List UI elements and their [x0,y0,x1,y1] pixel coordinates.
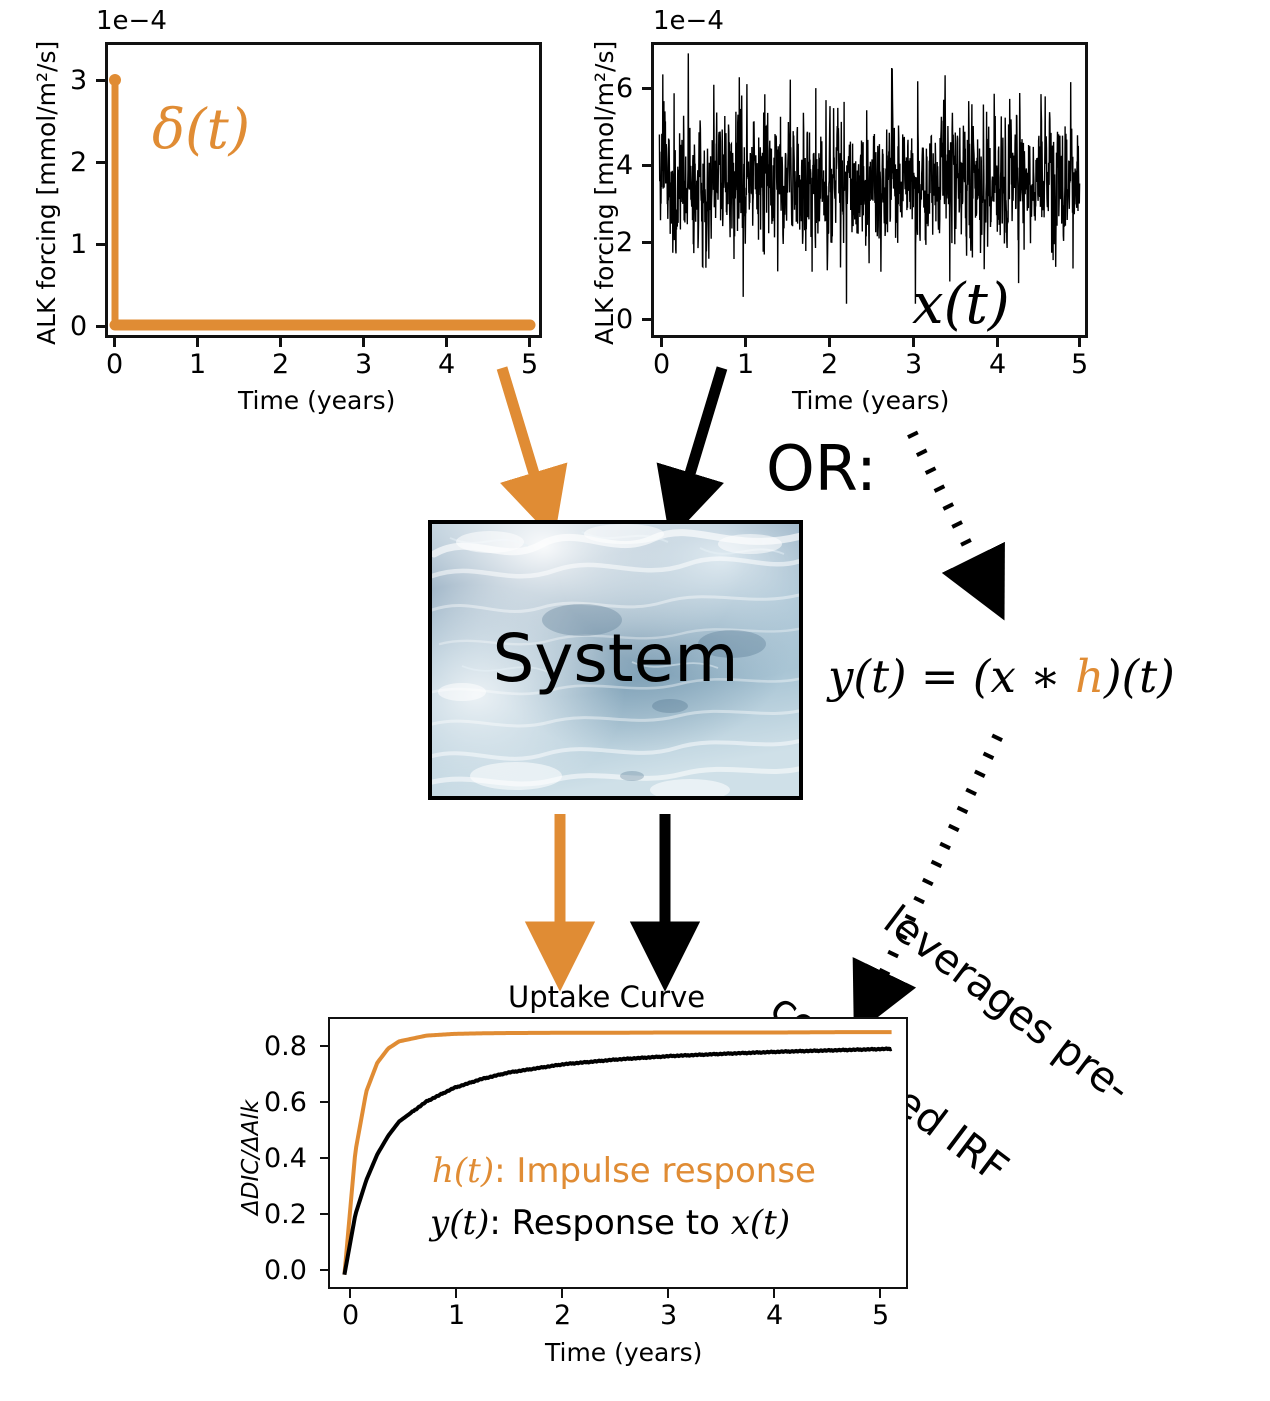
legend-y-text: : Response to [489,1203,730,1243]
noise-ytick-label: 2 [616,227,633,258]
uptake-xtick-mark [349,1289,351,1298]
noise-ytick-label: 0 [616,304,633,335]
uptake-yaxis-label: ΔDIC/ΔAlk [238,1100,264,1215]
impulse-xtick-mark [362,338,365,347]
impulse-ytick-label: 2 [70,147,87,178]
impulse-xtick-label: 2 [272,349,289,380]
arrow-impulse-to-system [480,360,600,520]
noise-xaxis-label: Time (years) [792,386,949,415]
uptake-ytick-label: 0.4 [264,1143,307,1174]
uptake-xtick-mark [773,1289,775,1298]
uptake-xtick-label: 1 [448,1300,465,1331]
uptake-ytick-mark [320,1045,329,1047]
noise-ytick-mark [642,87,651,90]
impulse-xtick-mark [113,338,116,347]
uptake-xtick-mark [879,1289,881,1298]
uptake-ytick-mark [320,1157,329,1159]
arrow-system-to-uptake-orange [540,810,590,970]
noise-xtick-label: 2 [821,349,838,380]
impulse-ytick-mark [96,325,105,328]
uptake-ytick-mark [320,1269,329,1271]
uptake-ytick-label: 0.6 [264,1087,307,1118]
impulse-ytick-label: 0 [70,311,87,342]
impulse-xtick-label: 0 [106,349,123,380]
noise-xtick-label: 4 [989,349,1006,380]
uptake-legend-h: h(t): Impulse response [432,1151,816,1191]
impulse-ytick-label: 3 [70,65,87,96]
arrow-noise-to-system [660,360,780,520]
impulse-ytick-mark [96,243,105,246]
uptake-ytick-label: 0.2 [264,1199,307,1230]
convolution-equation: y(t) = (x ∗ h)(t) [828,650,1175,703]
uptake-xtick-label: 5 [872,1300,889,1331]
impulse-xtick-mark [196,338,199,347]
equation-h-symbol: h [1075,650,1104,703]
system-box: System [428,520,803,800]
impulse-xtick-label: 3 [355,349,372,380]
impulse-ytick-mark [96,161,105,164]
uptake-xtick-mark [561,1289,563,1298]
noise-xtick-label: 3 [905,349,922,380]
noise-ytick-mark [642,164,651,167]
system-label: System [432,620,799,697]
impulse-annotation-delta: δ(t) [152,97,250,161]
impulse-ytick-mark [96,79,105,82]
noise-ytick-mark [642,318,651,321]
impulse-yaxis-label: ALK forcing [mmol/m²/s] [32,41,61,345]
uptake-xtick-mark [455,1289,457,1298]
noise-ytick-mark [642,241,651,244]
impulse-xtick-label: 4 [438,349,455,380]
uptake-ytick-mark [320,1101,329,1103]
noise-xtick-mark [1078,338,1081,347]
panel-stochastic-forcing: 1e−4 ALK forcing [mmol/m²/s] 0 2 4 6 0 1… [560,0,1120,420]
or-text: OR: [766,432,877,505]
uptake-title: Uptake Curve [508,980,705,1014]
uptake-ytick-label: 0.8 [264,1031,307,1062]
uptake-xtick-label: 4 [766,1300,783,1331]
uptake-ytick-mark [320,1213,329,1215]
uptake-xtick-label: 3 [660,1300,677,1331]
impulse-yaxis-offset-text: 1e−4 [96,6,167,36]
noise-yaxis-label: ALK forcing [mmol/m²/s] [590,41,619,345]
uptake-xtick-label: 2 [554,1300,571,1331]
arrow-dotted-to-equation [900,425,1040,615]
uptake-ytick-label: 0.0 [264,1255,307,1286]
impulse-xtick-label: 1 [189,349,206,380]
uptake-xaxis-label: Time (years) [545,1338,702,1367]
uptake-legend-y: y(t): Response to x(t) [430,1203,790,1243]
noise-ytick-label: 6 [616,73,633,104]
noise-annotation-x: x(t) [912,272,1010,337]
legend-h-symbol: h(t) [432,1151,494,1191]
noise-xtick-mark [996,338,999,347]
impulse-xaxis-label: Time (years) [238,386,395,415]
uptake-xtick-mark [667,1289,669,1298]
impulse-xtick-mark [445,338,448,347]
noise-xtick-mark [660,338,663,347]
noise-ytick-label: 4 [616,150,633,181]
equation-lhs: y(t) = (x ∗ [828,650,1075,703]
legend-y-symbol: y(t) [430,1203,489,1243]
impulse-ytick-label: 1 [70,229,87,260]
noise-yaxis-offset-text: 1e−4 [653,6,724,36]
legend-x-symbol: x(t) [731,1203,790,1243]
arrow-system-to-uptake-black [645,810,695,970]
noise-data-series [651,42,1088,338]
uptake-xtick-label: 0 [342,1300,359,1331]
leverages-precomputed-irf-note: leverages pre- computed IRF [765,824,1195,1259]
legend-h-text: : Impulse response [494,1151,816,1191]
impulse-xtick-mark [528,338,531,347]
noise-xtick-mark [744,338,747,347]
panel-impulse-forcing: 1e−4 ALK forcing [mmol/m²/s] 0 1 2 3 0 1… [0,0,560,420]
equation-rhs: )(t) [1104,650,1175,703]
impulse-data-series [105,42,542,338]
noise-xtick-label: 5 [1071,349,1088,380]
noise-xtick-mark [912,338,915,347]
noise-xtick-mark [828,338,831,347]
impulse-xtick-mark [279,338,282,347]
